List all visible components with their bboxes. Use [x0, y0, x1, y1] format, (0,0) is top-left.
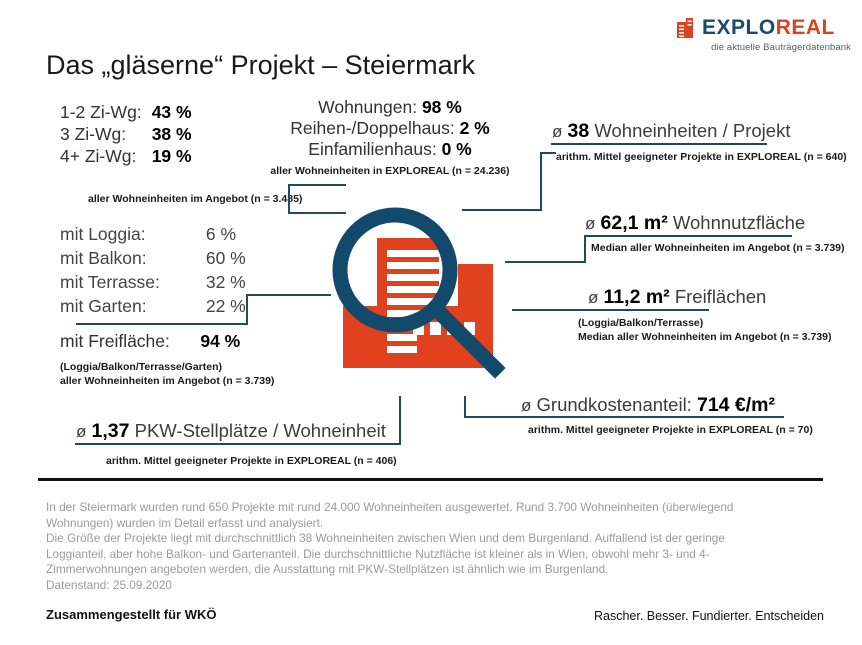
- type-value-2: 2 %: [460, 118, 490, 138]
- type-value-1: 98 %: [422, 97, 462, 117]
- exploreal-logo: EXPLOREAL die aktuelle Bauträgerdatenban…: [676, 16, 851, 52]
- room-distribution-table: 1-2 Zi-Wg: 43 % 3 Zi-Wg: 38 % 4+ Zi-Wg: …: [60, 101, 192, 167]
- footer-left-text: Zusammengestellt für WKÖ: [46, 607, 216, 622]
- parking-headline: ø 1,37 PKW-Stellplätze / Wohneinheit: [76, 419, 386, 443]
- connector-line: [196, 323, 248, 325]
- outdoor-label-4: mit Garten:: [60, 294, 206, 318]
- open-area-headline: ø 11,2 m² Freiflächen: [588, 285, 766, 309]
- living-area-note: Median aller Wohneinheiten im Angebot (n…: [591, 241, 845, 255]
- outdoor-features-table: mit Loggia: 6 % mit Balkon: 60 % mit Ter…: [60, 222, 246, 318]
- land-cost-note: arithm. Mittel geeigneter Projekte in EX…: [528, 423, 813, 437]
- table-row: mit Terrasse: 32 %: [60, 270, 246, 294]
- units-per-project-headline: ø 38 Wohneinheiten / Projekt: [552, 119, 790, 143]
- units-per-project-note: arithm. Mittel geeigneter Projekte in EX…: [556, 150, 847, 164]
- connector-line: [76, 323, 196, 325]
- outdoor-note-2: aller Wohneinheiten im Angebot (n = 3.73…: [60, 374, 274, 388]
- page-title: Das „gläserne“ Projekt – Steiermark: [46, 50, 475, 81]
- open-area-value: 11,2 m²: [604, 286, 670, 308]
- outdoor-label-3: mit Terrasse:: [60, 270, 206, 294]
- type-value-3: 0 %: [442, 139, 472, 159]
- room-label-2: 3 Zi-Wg:: [60, 123, 152, 145]
- building-type-block: Wohnungen: 98 % Reihen-/Doppelhaus: 2 % …: [250, 97, 530, 178]
- connector-line: [584, 235, 586, 263]
- parking-note: arithm. Mittel geeigneter Projekte in EX…: [106, 454, 397, 468]
- connector-line: [290, 184, 346, 186]
- room-distribution-block: 1-2 Zi-Wg: 43 % 3 Zi-Wg: 38 % 4+ Zi-Wg: …: [60, 101, 192, 167]
- table-row: mit Balkon: 60 %: [60, 246, 246, 270]
- average-symbol: ø: [552, 122, 562, 141]
- room-label-3: 4+ Zi-Wg:: [60, 145, 152, 167]
- units-per-project-value: 38: [568, 120, 590, 142]
- land-cost-headline: ø Grundkostenanteil: 714 €/m²: [521, 393, 775, 417]
- outdoor-value-1: 6 %: [206, 222, 246, 246]
- parking-label: PKW-Stellplätze / Wohneinheit: [135, 420, 386, 441]
- living-area-headline: ø 62,1 m² Wohnnutzfläche: [585, 211, 805, 235]
- table-row: mit Garten: 22 %: [60, 294, 246, 318]
- horizontal-divider: [38, 478, 823, 481]
- average-symbol: ø: [588, 288, 598, 307]
- outdoor-total-row: mit Freifläche: 94 %: [60, 331, 240, 352]
- magnifier-over-building-icon: [307, 196, 523, 384]
- open-area-note-1: (Loggia/Balkon/Terrasse): [578, 316, 703, 330]
- underline-rule: [551, 143, 767, 145]
- table-row: 4+ Zi-Wg: 19 %: [60, 145, 192, 167]
- underline-rule: [464, 416, 784, 418]
- summary-paragraph-2: Die Größe der Projekte liegt mit durchsc…: [46, 531, 786, 578]
- open-area-note-2: Median aller Wohneinheiten im Angebot (n…: [578, 330, 832, 344]
- type-line-3: Einfamilienhaus: 0 %: [250, 139, 530, 160]
- room-distribution-note: aller Wohneinheiten im Angebot (n = 3.48…: [88, 192, 302, 206]
- outdoor-value-4: 22 %: [206, 294, 246, 318]
- logo-text-real: REAL: [776, 16, 835, 39]
- room-value-2: 38 %: [152, 123, 192, 145]
- underline-rule: [75, 443, 401, 445]
- units-per-project-label: Wohneinheiten / Projekt: [594, 120, 790, 141]
- building-icon: [676, 17, 698, 39]
- connector-line: [464, 396, 466, 418]
- building-type-note: aller Wohneinheiten in EXPLOREAL (n = 24…: [250, 164, 530, 178]
- type-label-1: Wohnungen:: [318, 97, 417, 117]
- average-symbol: ø: [521, 396, 531, 415]
- summary-paragraph-1: In der Steiermark wurden rund 650 Projek…: [46, 500, 786, 531]
- outdoor-total-value: 94 %: [200, 331, 240, 351]
- type-label-3: Einfamilienhaus:: [308, 139, 436, 159]
- table-row: 1-2 Zi-Wg: 43 %: [60, 101, 192, 123]
- outdoor-value-2: 60 %: [206, 246, 246, 270]
- infographic-page: EXPLOREAL die aktuelle Bauträgerdatenban…: [0, 0, 862, 645]
- type-line-2: Reihen-/Doppelhaus: 2 %: [250, 118, 530, 139]
- outdoor-value-3: 32 %: [206, 270, 246, 294]
- living-area-value: 62,1 m²: [601, 212, 668, 234]
- outdoor-label-2: mit Balkon:: [60, 246, 206, 270]
- room-label-1: 1-2 Zi-Wg:: [60, 101, 152, 123]
- logo-text-explo: EXPLO: [702, 16, 776, 39]
- connector-line: [540, 152, 556, 154]
- room-value-3: 19 %: [152, 145, 192, 167]
- parking-value: 1,37: [92, 420, 130, 442]
- land-cost-value: 714 €/m²: [697, 394, 775, 416]
- outdoor-features-block: mit Loggia: 6 % mit Balkon: 60 % mit Ter…: [60, 222, 246, 318]
- table-row: mit Loggia: 6 %: [60, 222, 246, 246]
- living-area-label: Wohnnutzfläche: [673, 212, 805, 233]
- type-label-2: Reihen-/Doppelhaus:: [290, 118, 454, 138]
- underline-rule: [584, 235, 792, 237]
- type-line-1: Wohnungen: 98 %: [250, 97, 530, 118]
- average-symbol: ø: [585, 214, 595, 233]
- connector-line: [399, 396, 401, 444]
- logo-subtitle: die aktuelle Bauträgerdatenbank: [676, 42, 851, 53]
- average-symbol: ø: [76, 422, 86, 441]
- room-value-1: 43 %: [152, 101, 192, 123]
- connector-line: [246, 294, 248, 325]
- connector-line: [288, 184, 290, 214]
- connector-line: [540, 152, 542, 211]
- table-row: 3 Zi-Wg: 38 %: [60, 123, 192, 145]
- outdoor-note-1: (Loggia/Balkon/Terrasse/Garten): [60, 360, 222, 374]
- summary-text: In der Steiermark wurden rund 650 Projek…: [46, 500, 786, 593]
- open-area-label: Freiflächen: [675, 286, 767, 307]
- outdoor-total-label: mit Freifläche:: [60, 331, 170, 351]
- land-cost-label: Grundkostenanteil:: [537, 394, 692, 415]
- footer-right-slogan: Rascher. Besser. Fundierter. Entscheiden: [594, 609, 824, 623]
- summary-paragraph-3: Datenstand: 25.09.2020: [46, 578, 786, 594]
- outdoor-label-1: mit Loggia:: [60, 222, 206, 246]
- underline-rule: [512, 309, 709, 311]
